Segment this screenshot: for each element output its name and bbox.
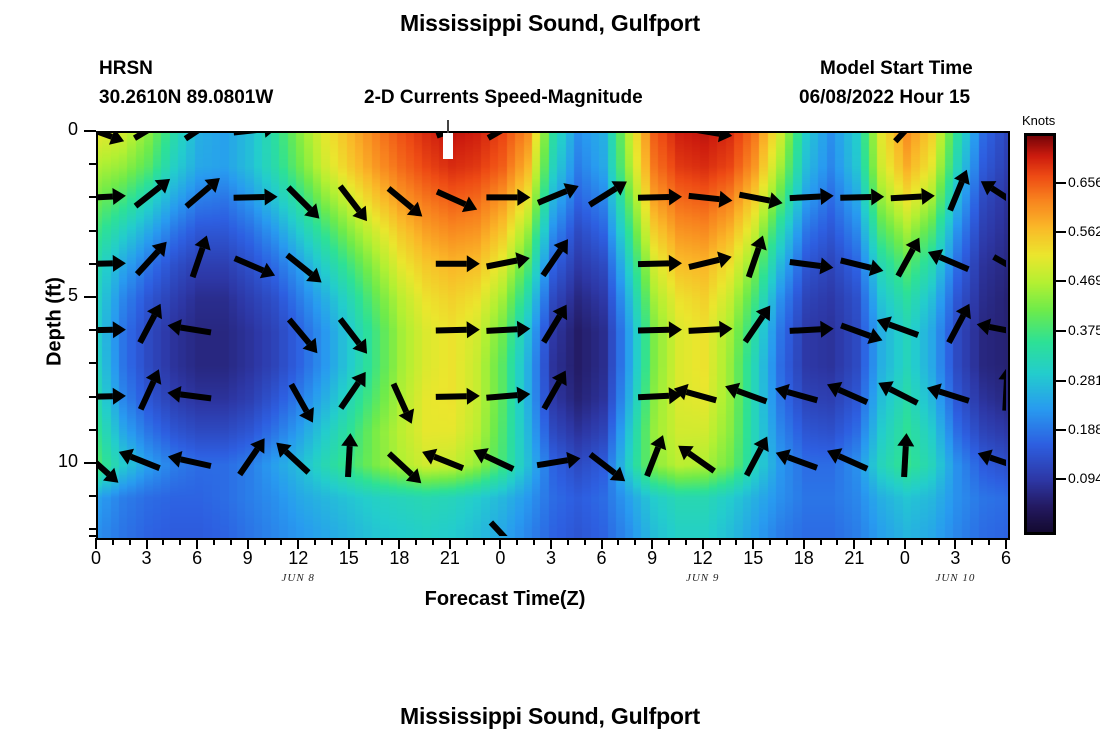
colorbar-tick [1053, 429, 1066, 431]
y-axis-minor-tick [89, 163, 96, 165]
x-axis-minor-tick [162, 538, 164, 545]
x-axis-minor-tick [112, 538, 114, 545]
x-axis-tick-label: 3 [935, 548, 975, 569]
y-axis-minor-tick [89, 396, 96, 398]
colorbar-tick-label: 0.469 [1068, 272, 1100, 288]
colorbar-gradient [1027, 136, 1053, 532]
y-axis-major-tick [84, 296, 96, 298]
colorbar-tick-label: 0.562 [1068, 223, 1100, 239]
colorbar-tick-label: 0.188 [1068, 421, 1100, 437]
x-axis-minor-tick [971, 538, 973, 545]
y-axis-major-tick [84, 130, 96, 132]
model-start-time-value: 06/08/2022 Hour 15 [799, 87, 970, 109]
x-axis-minor-tick [415, 538, 417, 545]
colorbar-tick [1053, 478, 1066, 480]
colorbar-tick-label: 0.094 [1068, 470, 1100, 486]
x-axis-minor-tick [668, 538, 670, 545]
x-axis-minor-tick [719, 538, 721, 545]
y-axis-minor-tick [89, 263, 96, 265]
x-axis-tick-label: 15 [329, 548, 369, 569]
model-start-time-label: Model Start Time [820, 58, 973, 80]
colorbar-tick [1053, 330, 1066, 332]
x-axis-minor-tick [836, 538, 838, 545]
colorbar-tick-label: 0.281 [1068, 372, 1100, 388]
x-axis-minor-tick [533, 538, 535, 545]
x-axis-date-label: JUN 9 [663, 572, 743, 584]
x-axis-minor-tick [634, 538, 636, 545]
x-axis-minor-tick [786, 538, 788, 545]
x-axis-minor-tick [870, 538, 872, 545]
x-axis-tick-label: 0 [76, 548, 116, 569]
colorbar-title: Knots [1022, 113, 1055, 128]
x-axis-minor-tick [820, 538, 822, 545]
x-axis-tick-label: 18 [784, 548, 824, 569]
x-axis-minor-tick [331, 538, 333, 545]
colorbar-tick [1053, 380, 1066, 382]
x-axis-minor-tick [230, 538, 232, 545]
x-axis-tick-label: 12 [683, 548, 723, 569]
x-axis-minor-tick [685, 538, 687, 545]
x-axis-minor-tick [314, 538, 316, 545]
speed-magnitude-heatmap [98, 133, 1008, 538]
y-axis-tick-label: 0 [34, 119, 78, 140]
x-axis-date-label: JUN 10 [915, 572, 995, 584]
colorbar-tick-label: 0.375 [1068, 322, 1100, 338]
x-axis-minor-tick [365, 538, 367, 545]
x-axis-minor-tick [280, 538, 282, 545]
x-axis-minor-tick [769, 538, 771, 545]
y-axis-minor-tick [89, 495, 96, 497]
x-axis-label-text: Forecast Time(Z) [425, 588, 586, 610]
y-axis-minor-tick [89, 230, 96, 232]
page-title: Mississippi Sound, Gulfport [0, 10, 1100, 37]
x-axis-minor-tick [264, 538, 266, 545]
station-id-label: HRSN [99, 58, 153, 80]
now-time-marker [443, 133, 453, 159]
x-axis-minor-tick [921, 538, 923, 545]
x-axis-tick-label: 3 [127, 548, 167, 569]
x-axis-minor-tick [213, 538, 215, 545]
colorbar-tick [1053, 231, 1066, 233]
footer-title: Mississippi Sound, Gulfport [0, 703, 1100, 730]
x-axis-minor-tick [617, 538, 619, 545]
y-axis-major-tick [84, 462, 96, 464]
x-axis-tick-label: 6 [177, 548, 217, 569]
x-axis-minor-tick [887, 538, 889, 545]
x-axis-minor-tick [516, 538, 518, 545]
x-axis-minor-tick [567, 538, 569, 545]
y-axis-minor-tick [89, 329, 96, 331]
x-axis-minor-tick [938, 538, 940, 545]
x-axis-tick-label: 3 [531, 548, 571, 569]
x-axis-tick-label: 21 [834, 548, 874, 569]
colorbar-tick-label: 0.656 [1068, 174, 1100, 190]
now-marker-tick [447, 120, 449, 133]
x-axis-tick-label: 0 [885, 548, 925, 569]
x-axis-minor-tick [466, 538, 468, 545]
y-axis-label: Depth (ft) [44, 242, 67, 402]
chart-subtitle: 2-D Currents Speed-Magnitude [364, 87, 643, 109]
colorbar [1024, 133, 1056, 535]
x-axis-tick-label: 21 [430, 548, 470, 569]
x-axis-minor-tick [129, 538, 131, 545]
heatmap-plot-area [96, 131, 1010, 540]
x-axis-minor-tick [179, 538, 181, 545]
y-axis-minor-tick [89, 196, 96, 198]
x-axis-minor-tick [988, 538, 990, 545]
x-axis-tick-label: 15 [733, 548, 773, 569]
y-axis-minor-tick [89, 535, 96, 537]
x-axis-minor-tick [381, 538, 383, 545]
x-axis-tick-label: 6 [986, 548, 1026, 569]
station-coordinates: 30.2610N 89.0801W [99, 87, 273, 109]
y-axis-minor-tick [89, 429, 96, 431]
colorbar-tick [1053, 280, 1066, 282]
x-axis-label: Forecast Time(Z) [0, 588, 1100, 611]
y-axis-tick-label: 10 [34, 451, 78, 472]
x-axis-tick-label: 0 [480, 548, 520, 569]
x-axis-date-label: JUN 8 [258, 572, 338, 584]
x-axis-tick-label: 6 [582, 548, 622, 569]
x-axis-tick-label: 18 [379, 548, 419, 569]
x-axis-tick-label: 9 [632, 548, 672, 569]
y-axis-minor-tick [89, 528, 96, 530]
y-axis-tick-label: 5 [34, 285, 78, 306]
x-axis-minor-tick [483, 538, 485, 545]
colorbar-tick [1053, 182, 1066, 184]
y-axis-minor-tick [89, 362, 96, 364]
x-axis-minor-tick [432, 538, 434, 545]
x-axis-minor-tick [735, 538, 737, 545]
x-axis-tick-label: 12 [278, 548, 318, 569]
x-axis-minor-tick [584, 538, 586, 545]
x-axis-tick-label: 9 [228, 548, 268, 569]
